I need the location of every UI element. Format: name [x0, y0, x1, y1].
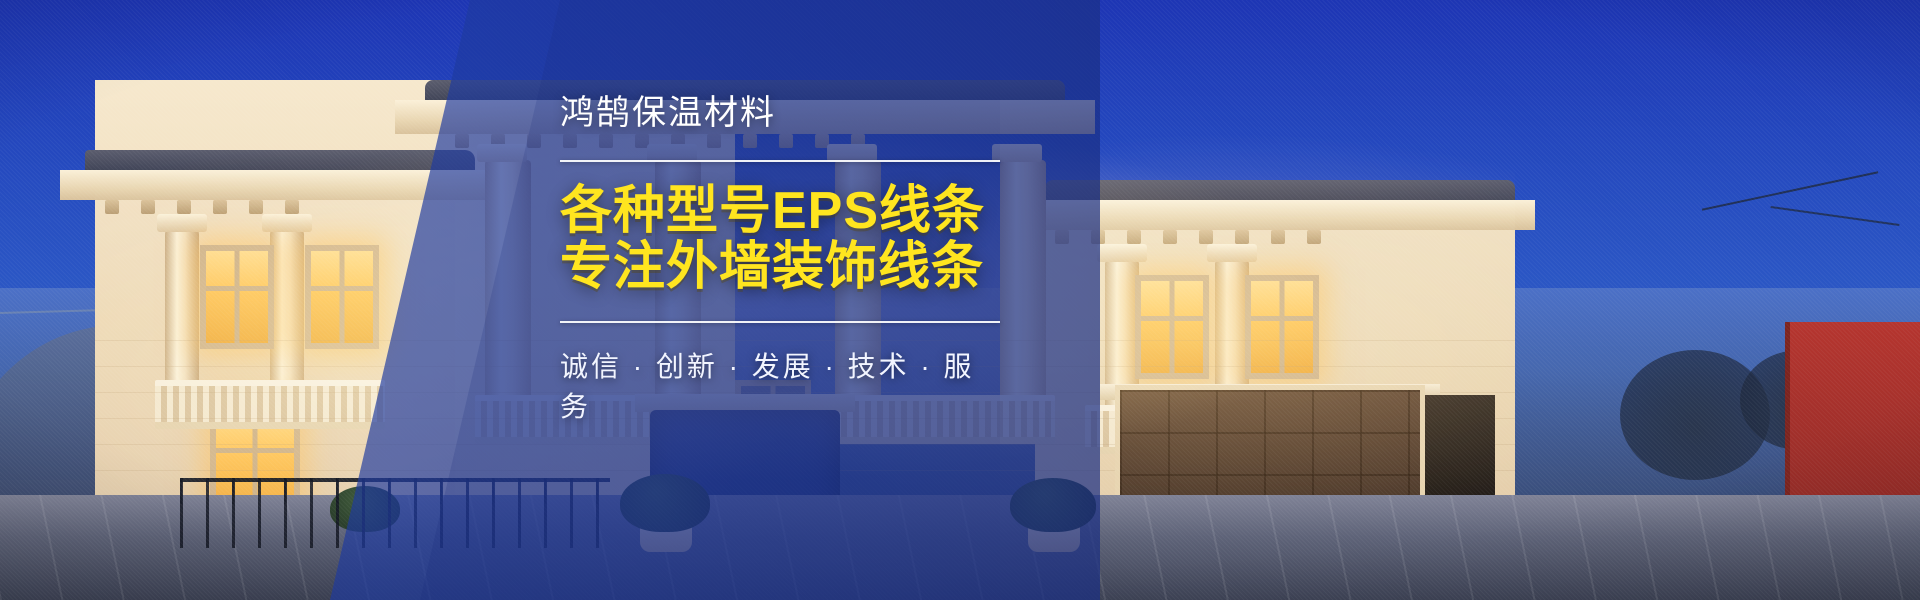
tagline: 诚信 · 创新 · 发展 · 技术 · 服务: [560, 345, 1000, 425]
lit-window: [305, 245, 379, 349]
dentil-row-right: [1055, 230, 1321, 244]
lit-window: [200, 245, 274, 349]
roof-slab-left: [85, 150, 475, 172]
headline-line-2: 专注外墙装饰线条: [560, 240, 1000, 296]
hero-banner: 鸿鹄保温材料 各种型号EPS线条 专注外墙装饰线条 诚信 · 创新 · 发展 ·…: [0, 0, 1920, 600]
cornice-left: [60, 170, 490, 200]
shrub: [1010, 478, 1096, 532]
divider-bottom: [560, 321, 1000, 323]
brand-name: 鸿鹄保温材料: [560, 96, 1000, 130]
roof-slab-right: [1045, 180, 1515, 202]
dentil-row-left: [105, 200, 299, 214]
shrub: [620, 474, 710, 532]
headline-line-1: 各种型号EPS线条: [560, 182, 985, 240]
headline: 各种型号EPS线条 专注外墙装饰线条: [560, 184, 1000, 295]
cornice-right: [1015, 200, 1535, 230]
banner-content: 鸿鹄保温材料 各种型号EPS线条 专注外墙装饰线条 诚信 · 创新 · 发展 ·…: [560, 96, 1000, 425]
iron-fence: [180, 478, 610, 548]
divider-top: [560, 160, 1000, 162]
